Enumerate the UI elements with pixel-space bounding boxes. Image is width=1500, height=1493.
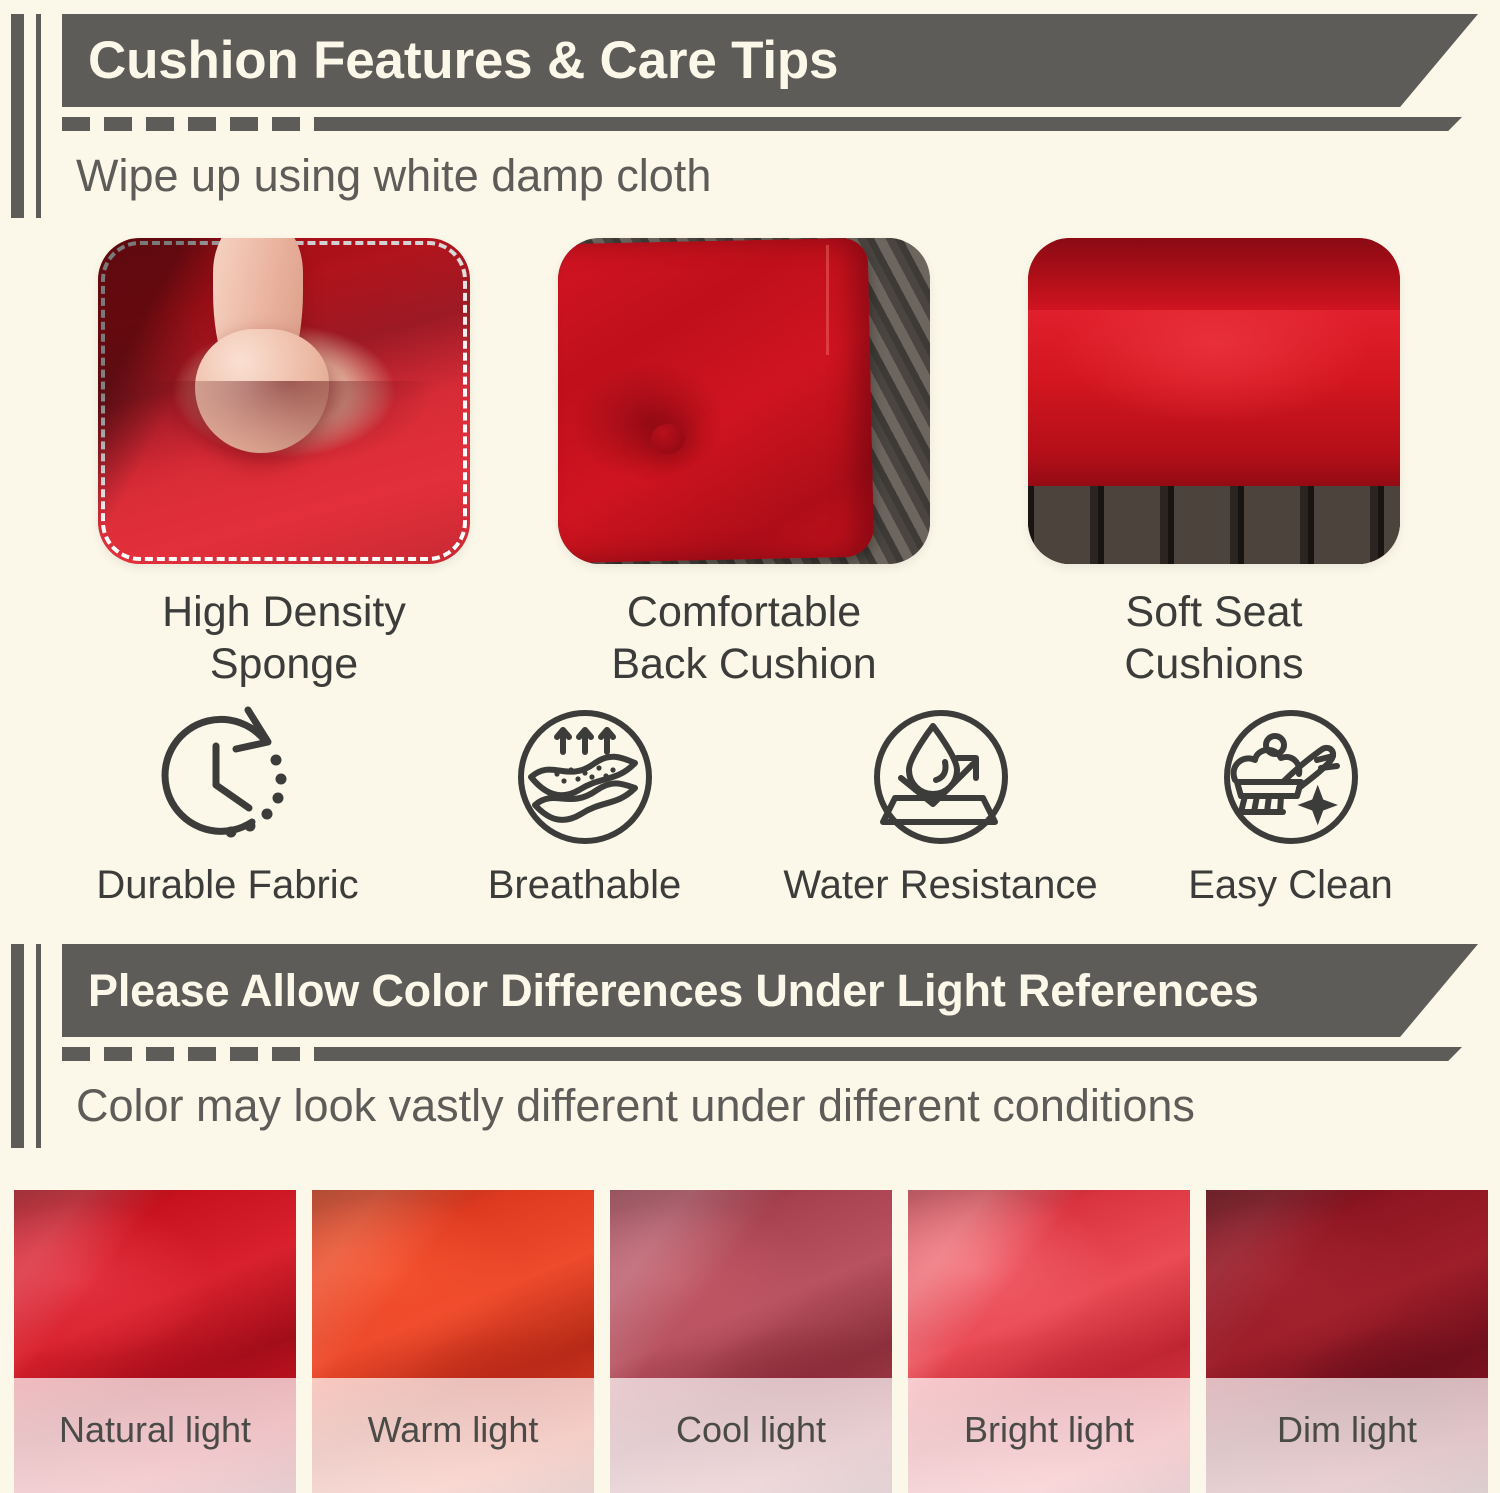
soft-seat-cushions-photo[interactable] — [1028, 238, 1400, 564]
feature-card[interactable]: Soft Seat Cushions — [1028, 238, 1400, 564]
care-subtitle: Wipe up using white damp cloth — [76, 150, 711, 202]
color-header-bar: Please Allow Color Differences Under Lig… — [62, 944, 1478, 1037]
care-header-bar: Cushion Features & Care Tips — [62, 14, 1478, 107]
color-swatch[interactable]: Cool light — [610, 1190, 892, 1493]
color-swatch-row: Natural light Warm light Cool light Brig… — [0, 1190, 1500, 1493]
color-swatch-label: Natural light — [14, 1409, 296, 1451]
color-swatch[interactable]: Warm light — [312, 1190, 594, 1493]
color-swatch-label: Warm light — [312, 1409, 594, 1451]
feature-card-caption: High Density Sponge — [98, 586, 470, 691]
rule-dash — [272, 1047, 300, 1061]
wicker-weave-base — [1028, 486, 1400, 564]
care-header-title: Cushion Features & Care Tips — [88, 30, 838, 91]
cushion-dent — [143, 381, 433, 466]
color-swatch-label: Cool light — [610, 1409, 892, 1451]
water-droplet-repel-icon — [768, 700, 1113, 855]
benefit-icon-cell[interactable]: Durable Fabric — [55, 700, 400, 908]
cushion-seam — [826, 245, 829, 356]
color-swatch-label: Dim light — [1206, 1409, 1488, 1451]
color-swatch[interactable]: Bright light — [908, 1190, 1190, 1493]
care-header-rule — [62, 117, 1462, 131]
rail-thick-color — [11, 944, 24, 1148]
feature-card[interactable]: Comfortable Back Cushion — [558, 238, 930, 564]
rule-solid — [314, 1047, 1462, 1061]
rule-dash — [146, 1047, 174, 1061]
cushion-top-roll — [1028, 238, 1400, 316]
feature-card-caption: Soft Seat Cushions — [1028, 586, 1400, 691]
comfortable-back-cushion-photo[interactable] — [558, 238, 930, 564]
color-swatch[interactable]: Dim light — [1206, 1190, 1488, 1493]
benefit-icon-label: Easy Clean — [1118, 863, 1463, 908]
rail-thick-care — [11, 14, 24, 218]
scrub-brush-icon — [1118, 700, 1463, 855]
rule-dash — [104, 1047, 132, 1061]
rule-dash — [62, 117, 90, 131]
rule-solid — [314, 117, 1462, 131]
benefit-icon-cell[interactable]: Breathable — [412, 700, 757, 908]
rule-dash — [272, 117, 300, 131]
rule-dash — [230, 1047, 258, 1061]
rail-thin-color — [36, 944, 41, 1148]
high-density-sponge-photo[interactable] — [98, 238, 470, 564]
benefit-icon-cell[interactable]: Easy Clean — [1118, 700, 1463, 908]
benefit-icon-label: Breathable — [412, 863, 757, 908]
rule-dash — [104, 117, 132, 131]
rule-dash — [230, 117, 258, 131]
color-header-title: Please Allow Color Differences Under Lig… — [88, 965, 1259, 1017]
feature-card-caption: Comfortable Back Cushion — [558, 586, 930, 691]
color-swatch-label: Bright light — [908, 1409, 1190, 1451]
breathable-fabric-icon — [412, 700, 757, 855]
rule-dash — [146, 117, 174, 131]
benefit-icon-cell[interactable]: Water Resistance — [768, 700, 1113, 908]
tufting-button — [651, 424, 685, 454]
feature-card[interactable]: High Density Sponge — [98, 238, 470, 564]
color-subtitle: Color may look vastly different under di… — [76, 1080, 1195, 1132]
clock-arrow-icon — [55, 700, 400, 855]
color-header-rule — [62, 1047, 1462, 1061]
benefit-icon-row: Durable Fabric Breathable — [0, 700, 1500, 920]
feature-card-row: High Density Sponge Comfortable Back Cus… — [0, 238, 1500, 678]
rule-dash — [62, 1047, 90, 1061]
rail-thin-care — [36, 14, 41, 218]
color-swatch[interactable]: Natural light — [14, 1190, 296, 1493]
benefit-icon-label: Durable Fabric — [55, 863, 400, 908]
rule-dash — [188, 1047, 216, 1061]
benefit-icon-label: Water Resistance — [768, 863, 1113, 908]
rule-dash — [188, 117, 216, 131]
cushion-front-face — [1028, 310, 1400, 493]
